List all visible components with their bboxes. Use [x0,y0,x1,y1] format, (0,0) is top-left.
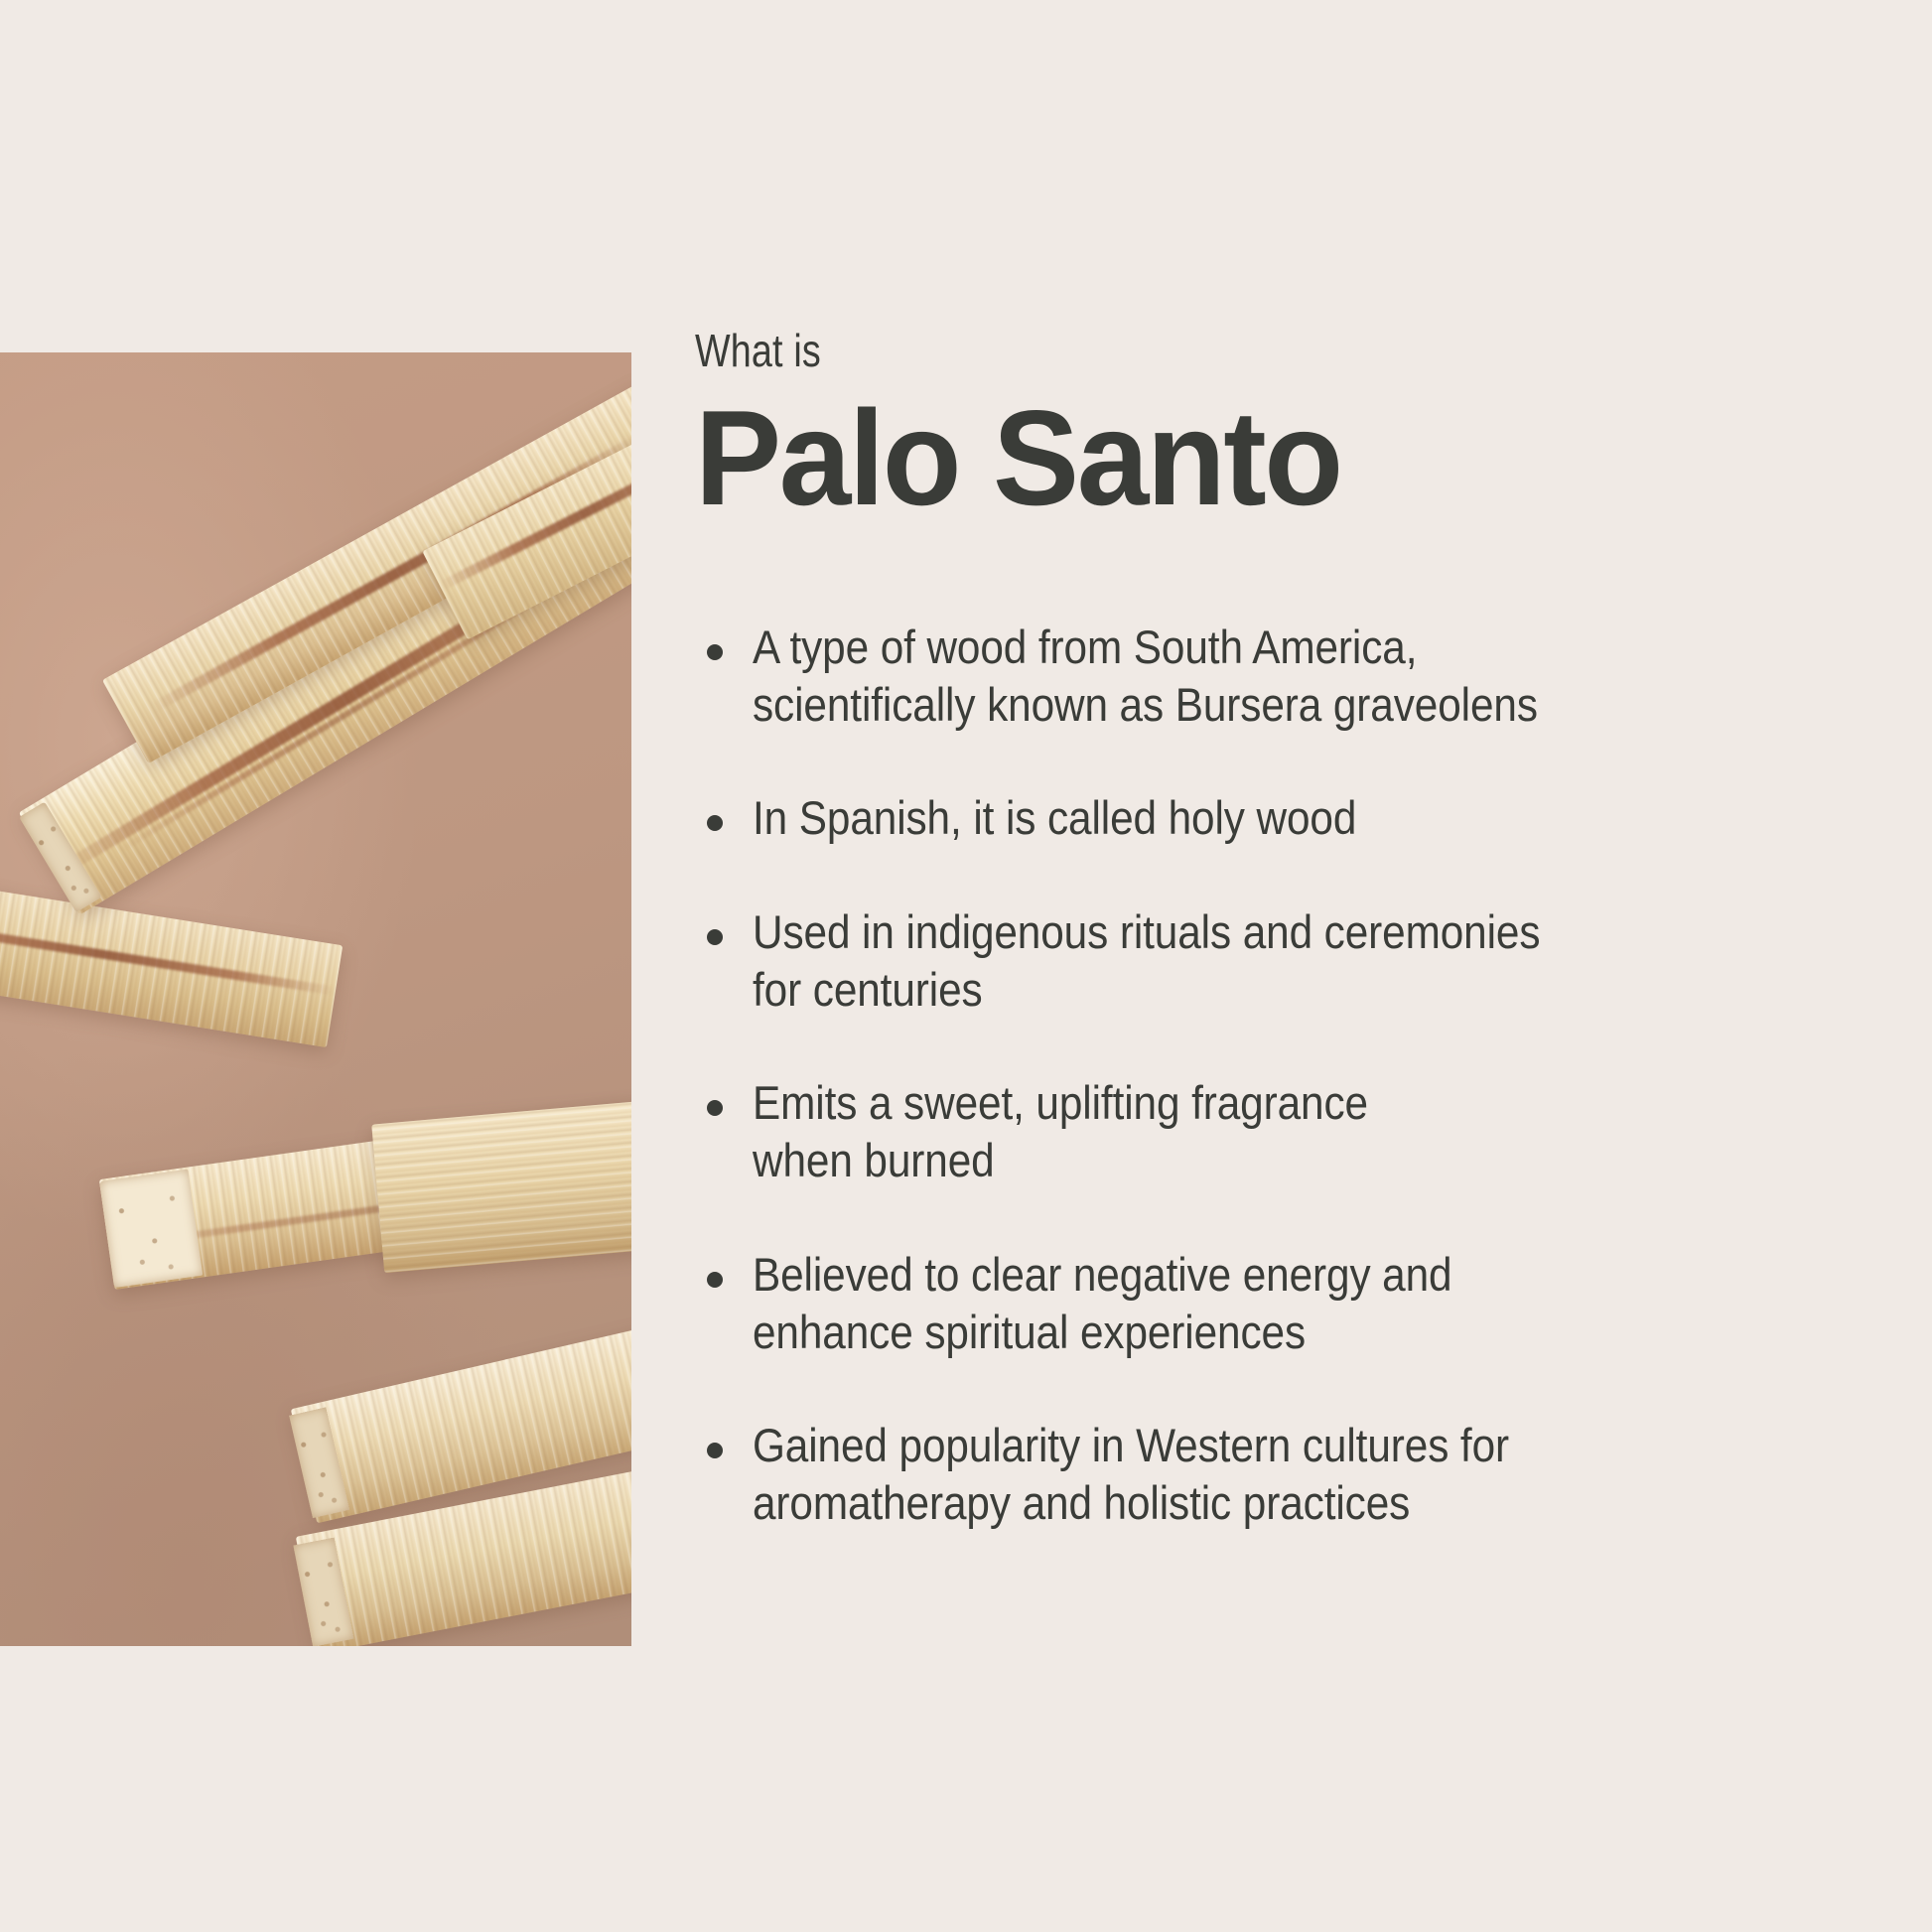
list-item: Believed to clear negative energy and en… [695,1246,1827,1362]
eyebrow-label: What is [695,328,1623,373]
list-item: In Spanish, it is called holy wood [695,789,1827,847]
list-item-text: Gained popularity in Western cultures fo… [753,1417,1826,1533]
bullet-dot-icon [707,1100,723,1116]
bullet-dot-icon [707,815,723,831]
list-item-text: Used in indigenous rituals and ceremonie… [753,903,1826,1020]
bullet-dot-icon [707,644,723,660]
list-item: Used in indigenous rituals and ceremonie… [695,903,1827,1020]
page-title: Palo Santo [695,389,1781,527]
content-column: What is Palo Santo A type of wood from S… [695,328,1827,1549]
bullet-dot-icon [707,929,723,945]
list-item: Gained popularity in Western cultures fo… [695,1417,1827,1533]
palo-santo-photo-panel [0,352,631,1646]
fact-list: A type of wood from South America, scien… [695,619,1827,1533]
list-item-text: A type of wood from South America, scien… [753,619,1826,735]
list-item-text: Believed to clear negative energy and en… [753,1246,1826,1362]
bullet-dot-icon [707,1443,723,1458]
bullet-dot-icon [707,1272,723,1288]
wood-pores [99,1170,203,1288]
list-item: A type of wood from South America, scien… [695,619,1827,735]
list-item-text: Emits a sweet, uplifting fragrance when … [753,1074,1826,1190]
list-item: Emits a sweet, uplifting fragrance when … [695,1074,1827,1190]
list-item-text: In Spanish, it is called holy wood [753,789,1826,847]
wood-end-cut [99,1170,203,1288]
infographic-canvas: What is Palo Santo A type of wood from S… [0,0,1932,1932]
